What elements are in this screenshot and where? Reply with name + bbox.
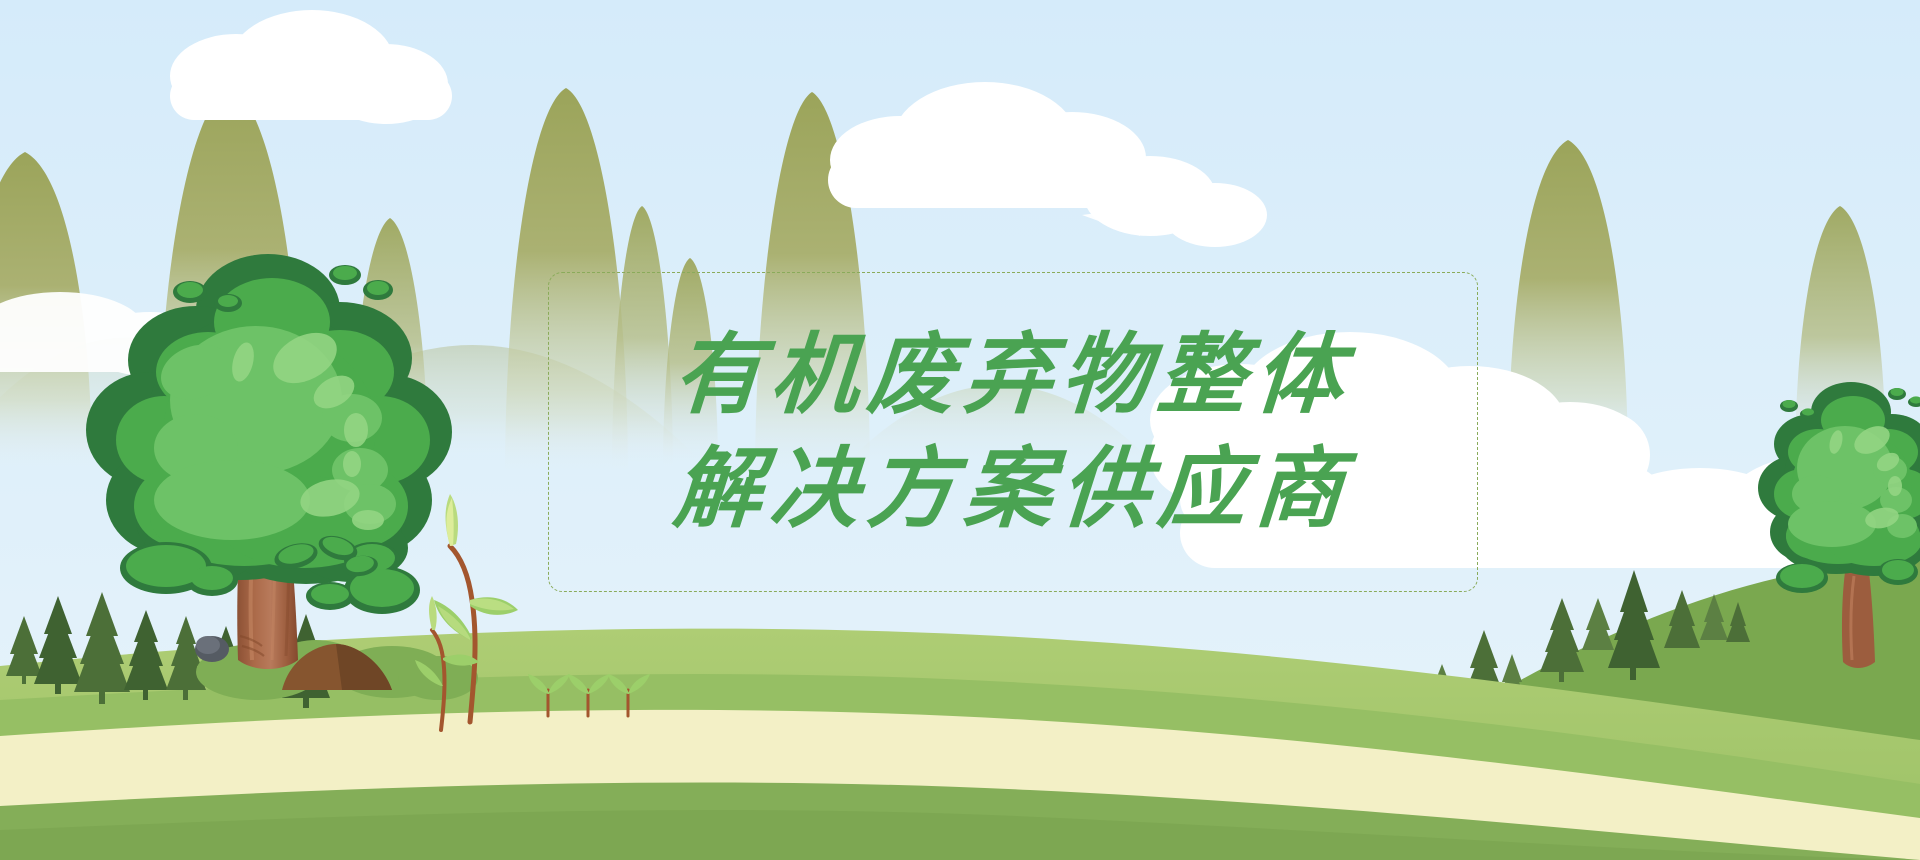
banner-root: 有机废弃物整体 解决方案供应商 bbox=[0, 0, 1920, 860]
sky-layer bbox=[0, 0, 1920, 860]
